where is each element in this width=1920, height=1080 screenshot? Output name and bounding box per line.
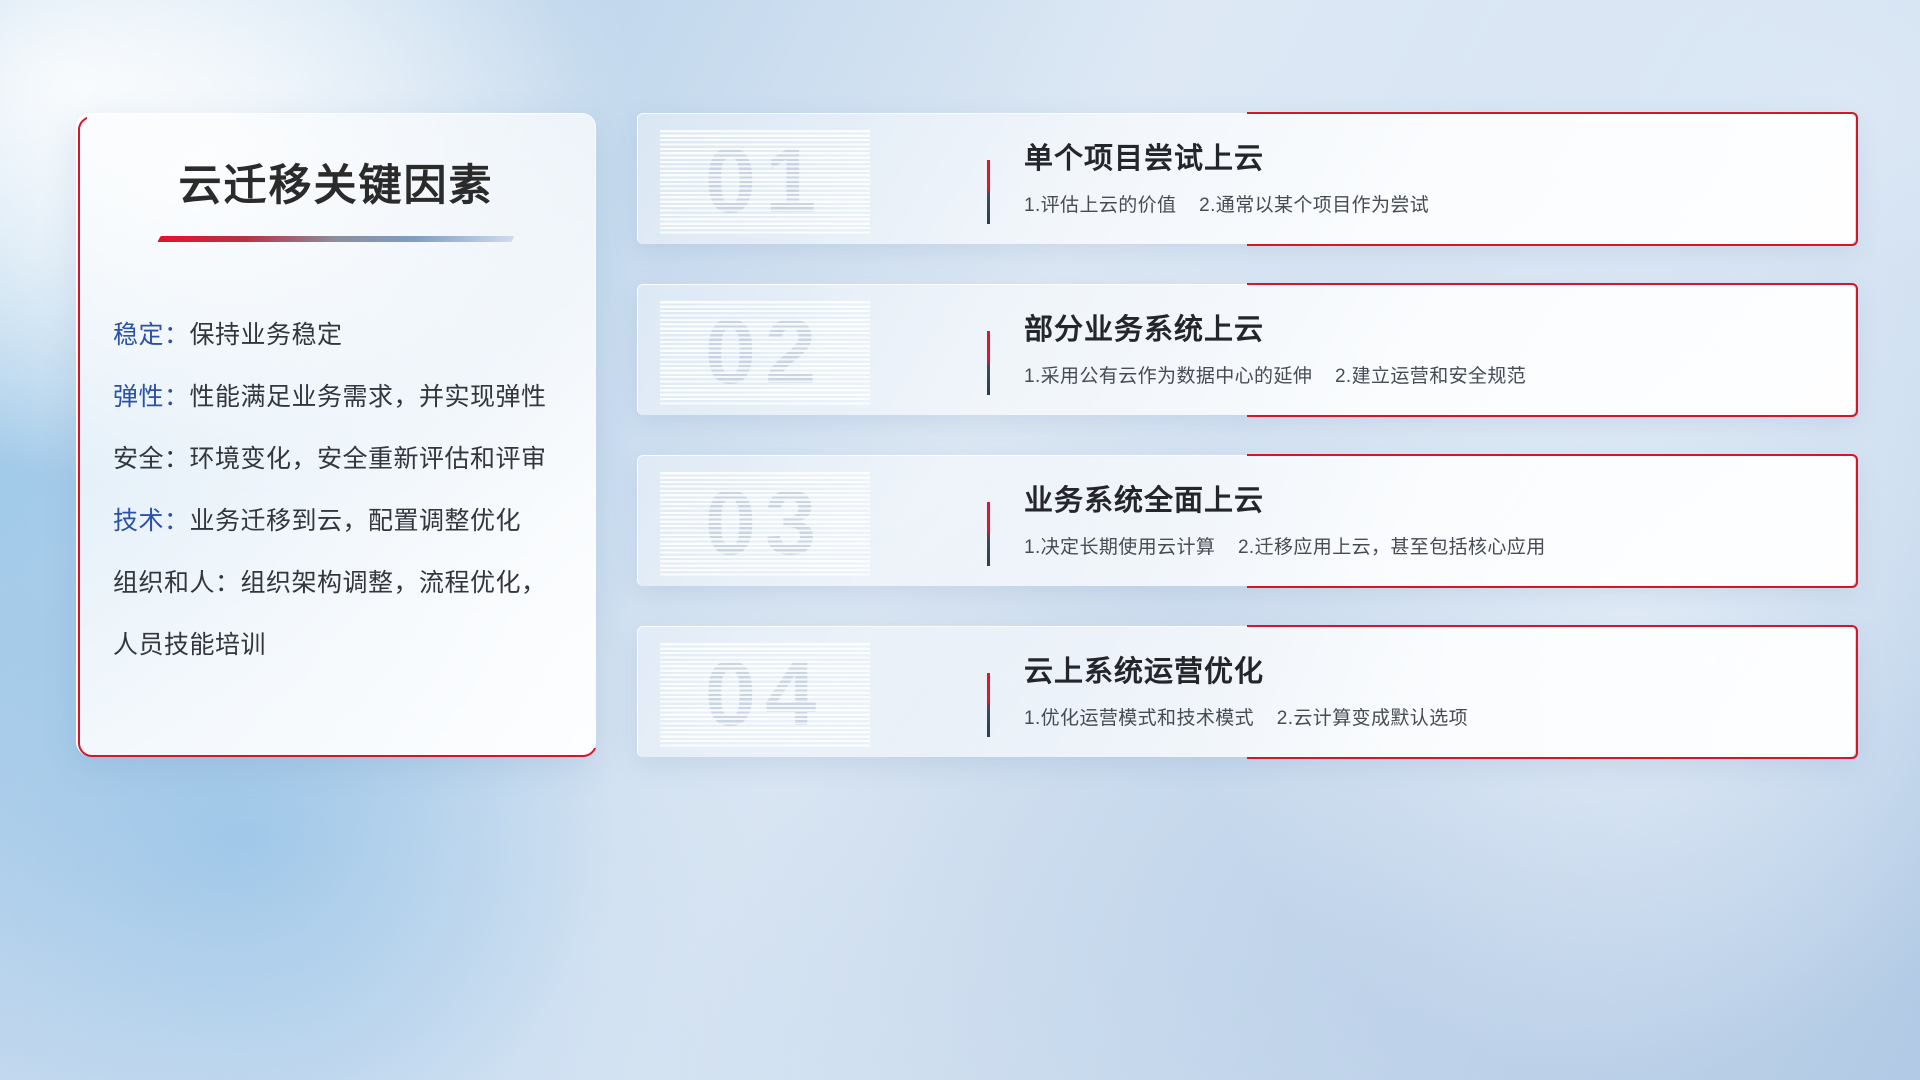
stage-subtitle: 1.采用公有云作为数据中心的延伸 2.建立运营和安全规范: [1024, 364, 1831, 390]
factor-label: 安全：: [113, 445, 190, 473]
factor-text: 保持业务稳定: [190, 321, 343, 349]
migration-stage-cards: 01单个项目尝试上云1.评估上云的价值 2.通常以某个项目作为尝试02部分业务系…: [637, 113, 1855, 797]
list-item: 安全：环境变化，安全重新评估和评审: [113, 428, 561, 490]
stage-divider-accent: [987, 502, 990, 566]
stage-divider-accent: [987, 331, 990, 395]
list-item: 弹性：性能满足业务需求，并实现弹性: [113, 366, 561, 428]
stage-card[interactable]: 02部分业务系统上云1.采用公有云作为数据中心的延伸 2.建立运营和安全规范: [637, 284, 1855, 415]
stage-card-body: 单个项目尝试上云1.评估上云的价值 2.通常以某个项目作为尝试: [1024, 139, 1831, 219]
slide-canvas: 云迁移关键因素 稳定：保持业务稳定弹性：性能满足业务需求，并实现弹性安全：环境变…: [0, 0, 1920, 1080]
stage-number: 03: [660, 470, 870, 576]
stage-title: 单个项目尝试上云: [1024, 139, 1831, 179]
list-item: 人员技能培训: [113, 614, 561, 676]
factor-label: 稳定：: [113, 321, 190, 349]
stage-title: 部分业务系统上云: [1024, 310, 1831, 350]
factor-text: 组织架构调整，流程优化，: [241, 569, 547, 597]
stage-card-body: 部分业务系统上云1.采用公有云作为数据中心的延伸 2.建立运营和安全规范: [1024, 310, 1831, 390]
stage-divider-accent: [987, 160, 990, 224]
key-factors-panel: 云迁移关键因素 稳定：保持业务稳定弹性：性能满足业务需求，并实现弹性安全：环境变…: [76, 113, 596, 756]
stage-title: 业务系统全面上云: [1024, 481, 1831, 521]
factor-text: 性能满足业务需求，并实现弹性: [190, 383, 547, 411]
stage-title: 云上系统运营优化: [1024, 652, 1831, 692]
key-factors-list: 稳定：保持业务稳定弹性：性能满足业务需求，并实现弹性安全：环境变化，安全重新评估…: [77, 304, 595, 676]
stage-card[interactable]: 03业务系统全面上云1.决定长期使用云计算 2.迁移应用上云，甚至包括核心应用: [637, 455, 1855, 586]
title-underline-accent: [157, 236, 514, 242]
list-item: 组织和人：组织架构调整，流程优化，: [113, 552, 561, 614]
stage-number: 02: [660, 299, 870, 405]
factor-label: 技术：: [113, 507, 190, 535]
factor-text: 业务迁移到云，配置调整优化: [190, 507, 522, 535]
factor-text: 人员技能培训: [113, 631, 266, 659]
stage-number: 04: [660, 641, 870, 747]
stage-subtitle: 1.决定长期使用云计算 2.迁移应用上云，甚至包括核心应用: [1024, 535, 1831, 561]
stage-card[interactable]: 01单个项目尝试上云1.评估上云的价值 2.通常以某个项目作为尝试: [637, 113, 1855, 244]
stage-card-body: 云上系统运营优化1.优化运营模式和技术模式 2.云计算变成默认选项: [1024, 652, 1831, 732]
factor-label: 弹性：: [113, 383, 190, 411]
list-item: 稳定：保持业务稳定: [113, 304, 561, 366]
stage-number: 01: [660, 128, 870, 234]
stage-card[interactable]: 04云上系统运营优化1.优化运营模式和技术模式 2.云计算变成默认选项: [637, 626, 1855, 757]
list-item: 技术：业务迁移到云，配置调整优化: [113, 490, 561, 552]
stage-divider-accent: [987, 673, 990, 737]
stage-card-body: 业务系统全面上云1.决定长期使用云计算 2.迁移应用上云，甚至包括核心应用: [1024, 481, 1831, 561]
stage-subtitle: 1.优化运营模式和技术模式 2.云计算变成默认选项: [1024, 706, 1831, 732]
factor-text: 环境变化，安全重新评估和评审: [190, 445, 547, 473]
factor-label: 组织和人：: [113, 569, 241, 597]
page-title: 云迁移关键因素: [77, 165, 595, 208]
stage-subtitle: 1.评估上云的价值 2.通常以某个项目作为尝试: [1024, 193, 1831, 219]
